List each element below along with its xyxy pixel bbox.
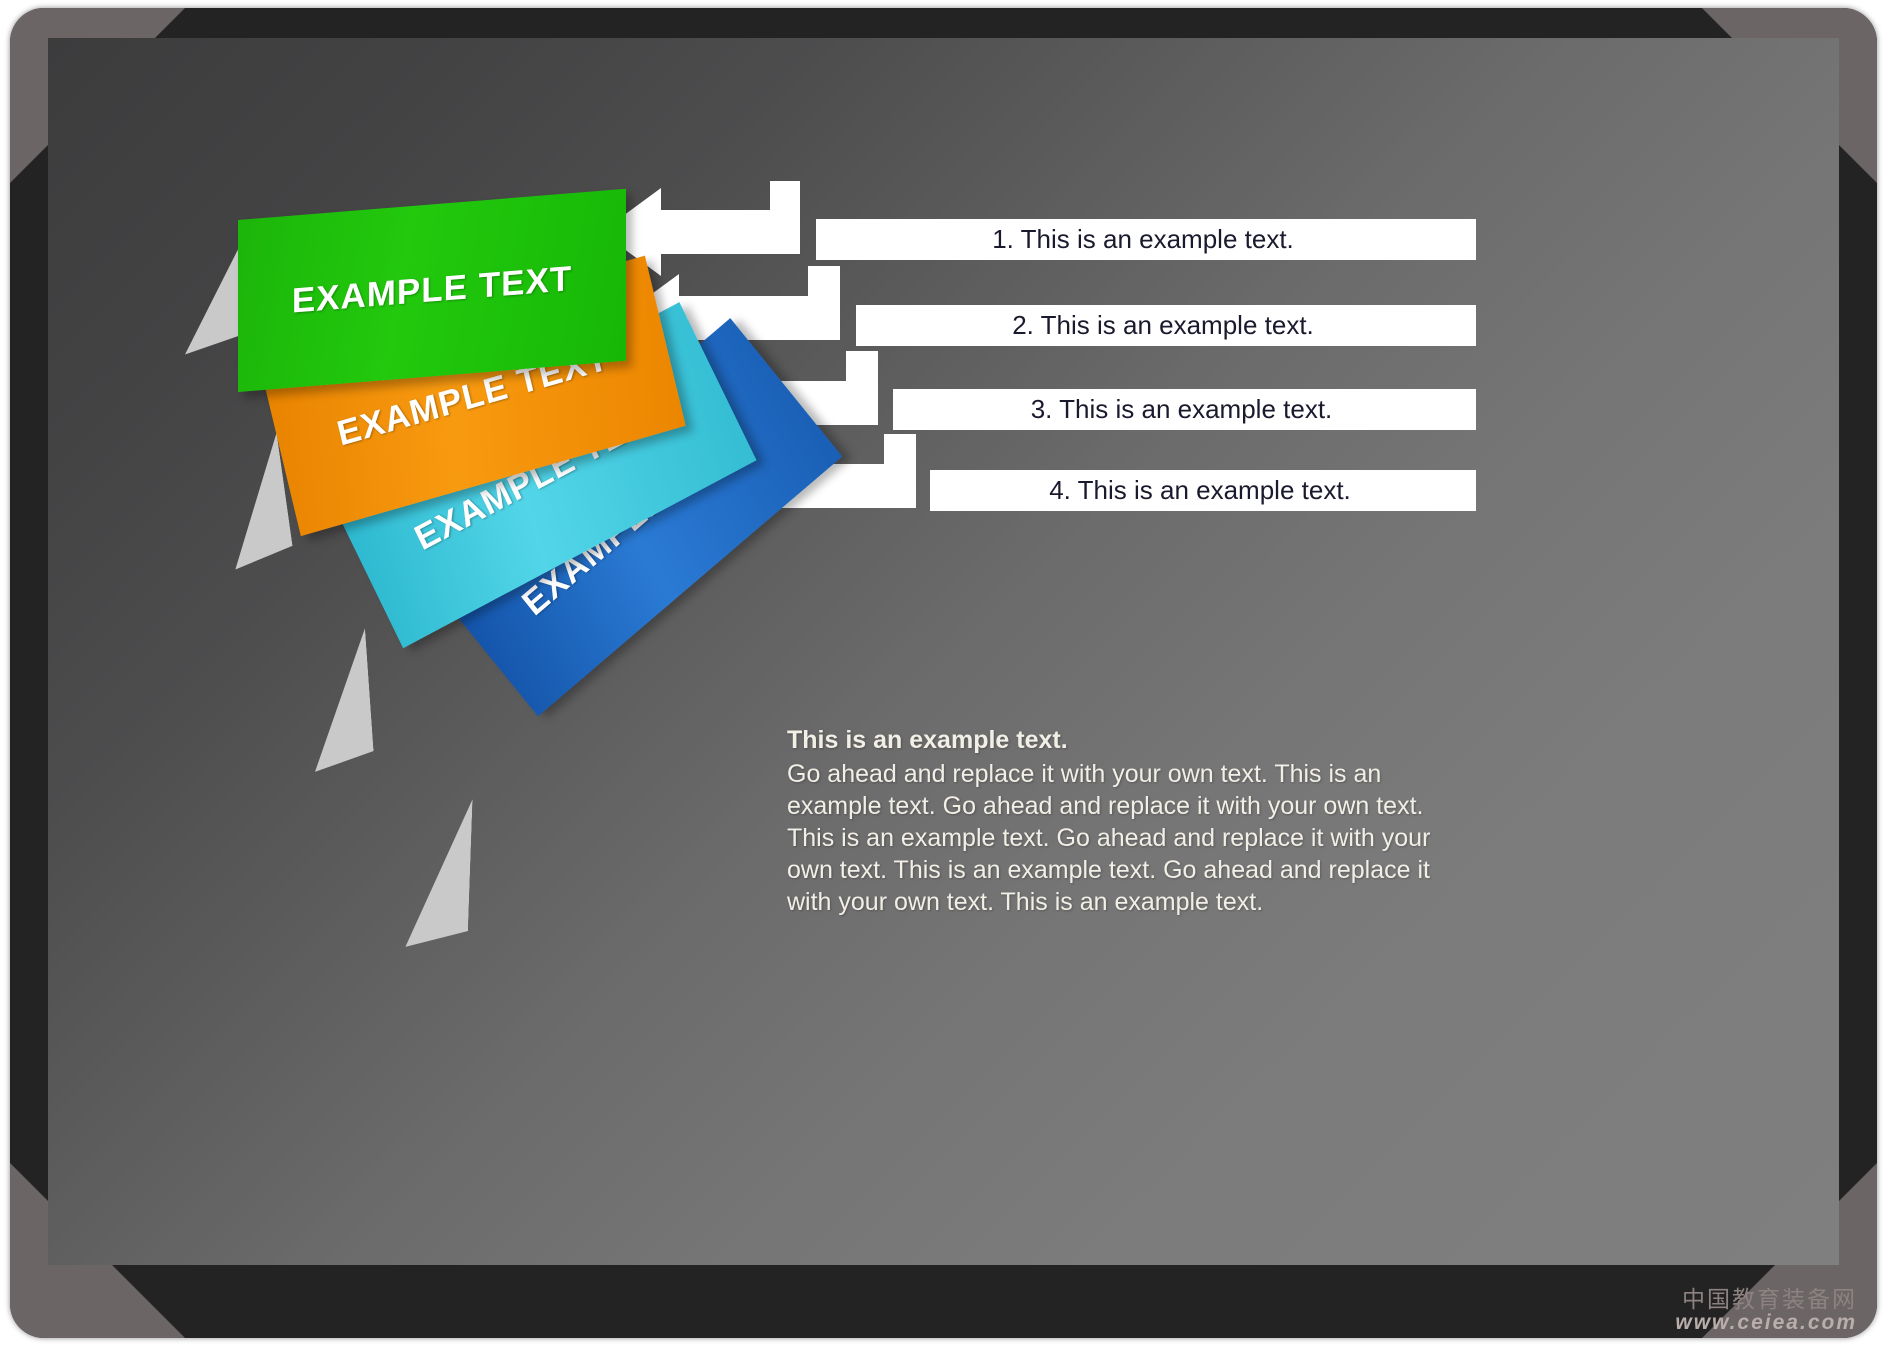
- ribbon-fold-blue: [405, 797, 472, 949]
- callout-bar-1[interactable]: 1. This is an example text.: [816, 219, 1476, 260]
- watermark: 中国教育装备网 www.ceiea.com: [1675, 1288, 1857, 1334]
- slide-canvas: EXAMPLE TEXT EXAMPLE TEXT EXAMPLE TEXT E…: [48, 38, 1839, 1265]
- watermark-chinese: 中国教育装备网: [1675, 1288, 1857, 1312]
- ribbon-fold-cyan: [305, 628, 375, 772]
- callout-text-4: 4. This is an example text.: [930, 475, 1476, 506]
- body-text-block: This is an example text. Go ahead and re…: [787, 726, 1437, 918]
- body-heading: This is an example text.: [787, 726, 1437, 755]
- slide-root: EXAMPLE TEXT EXAMPLE TEXT EXAMPLE TEXT E…: [0, 0, 1887, 1346]
- callout-text-2: 2. This is an example text.: [856, 310, 1476, 341]
- watermark-url: www.ceiea.com: [1675, 1312, 1857, 1334]
- ribbon-green-label: EXAMPLE TEXT: [238, 255, 626, 326]
- callout-bar-3[interactable]: 3. This is an example text.: [893, 389, 1476, 430]
- callout-text-3: 3. This is an example text.: [893, 394, 1476, 425]
- callout-bar-4[interactable]: 4. This is an example text.: [930, 470, 1476, 511]
- body-paragraph: Go ahead and replace it with your own te…: [787, 758, 1437, 918]
- callout-text-1: 1. This is an example text.: [816, 224, 1476, 255]
- callout-bar-2[interactable]: 2. This is an example text.: [856, 305, 1476, 346]
- ribbon-green[interactable]: EXAMPLE TEXT: [238, 189, 626, 392]
